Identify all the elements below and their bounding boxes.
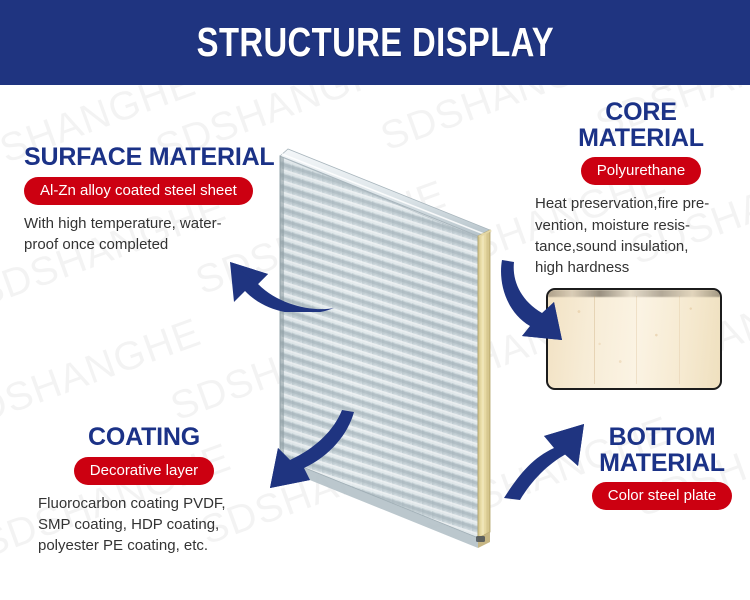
header-banner: STRUCTURE DISPLAY <box>0 0 750 85</box>
core-material-badge-row: Polyurethane <box>535 157 747 185</box>
surface-material-badge-row: Al-Zn alloy coated steel sheet <box>24 177 292 205</box>
arrow-to-bottom-material-icon <box>498 414 616 502</box>
arrow-to-core-material-icon <box>498 256 610 342</box>
coating-body: Fluorocarbon coating PVDF, SMP coating, … <box>38 493 310 557</box>
foam-texture-streak <box>636 296 637 384</box>
surface-material-heading: SURFACE MATERIAL <box>24 145 292 171</box>
foam-texture-streak <box>679 296 680 384</box>
core-material-heading: CORE MATERIAL <box>535 100 747 151</box>
arrow-to-surface-material-icon <box>222 228 340 312</box>
coating-badge: Decorative layer <box>74 457 214 485</box>
core-material-block: CORE MATERIAL Polyurethane Heat preserva… <box>535 100 747 278</box>
page-title: STRUCTURE DISPLAY <box>196 19 553 66</box>
core-material-badge: Polyurethane <box>581 157 701 185</box>
arrow-to-coating-icon <box>238 408 358 494</box>
surface-material-badge: Al-Zn alloy coated steel sheet <box>24 177 253 205</box>
structure-display-infographic: SDSHANGHE SDSHANGHE SDSHANGHE SDSHANGHE … <box>0 0 750 600</box>
